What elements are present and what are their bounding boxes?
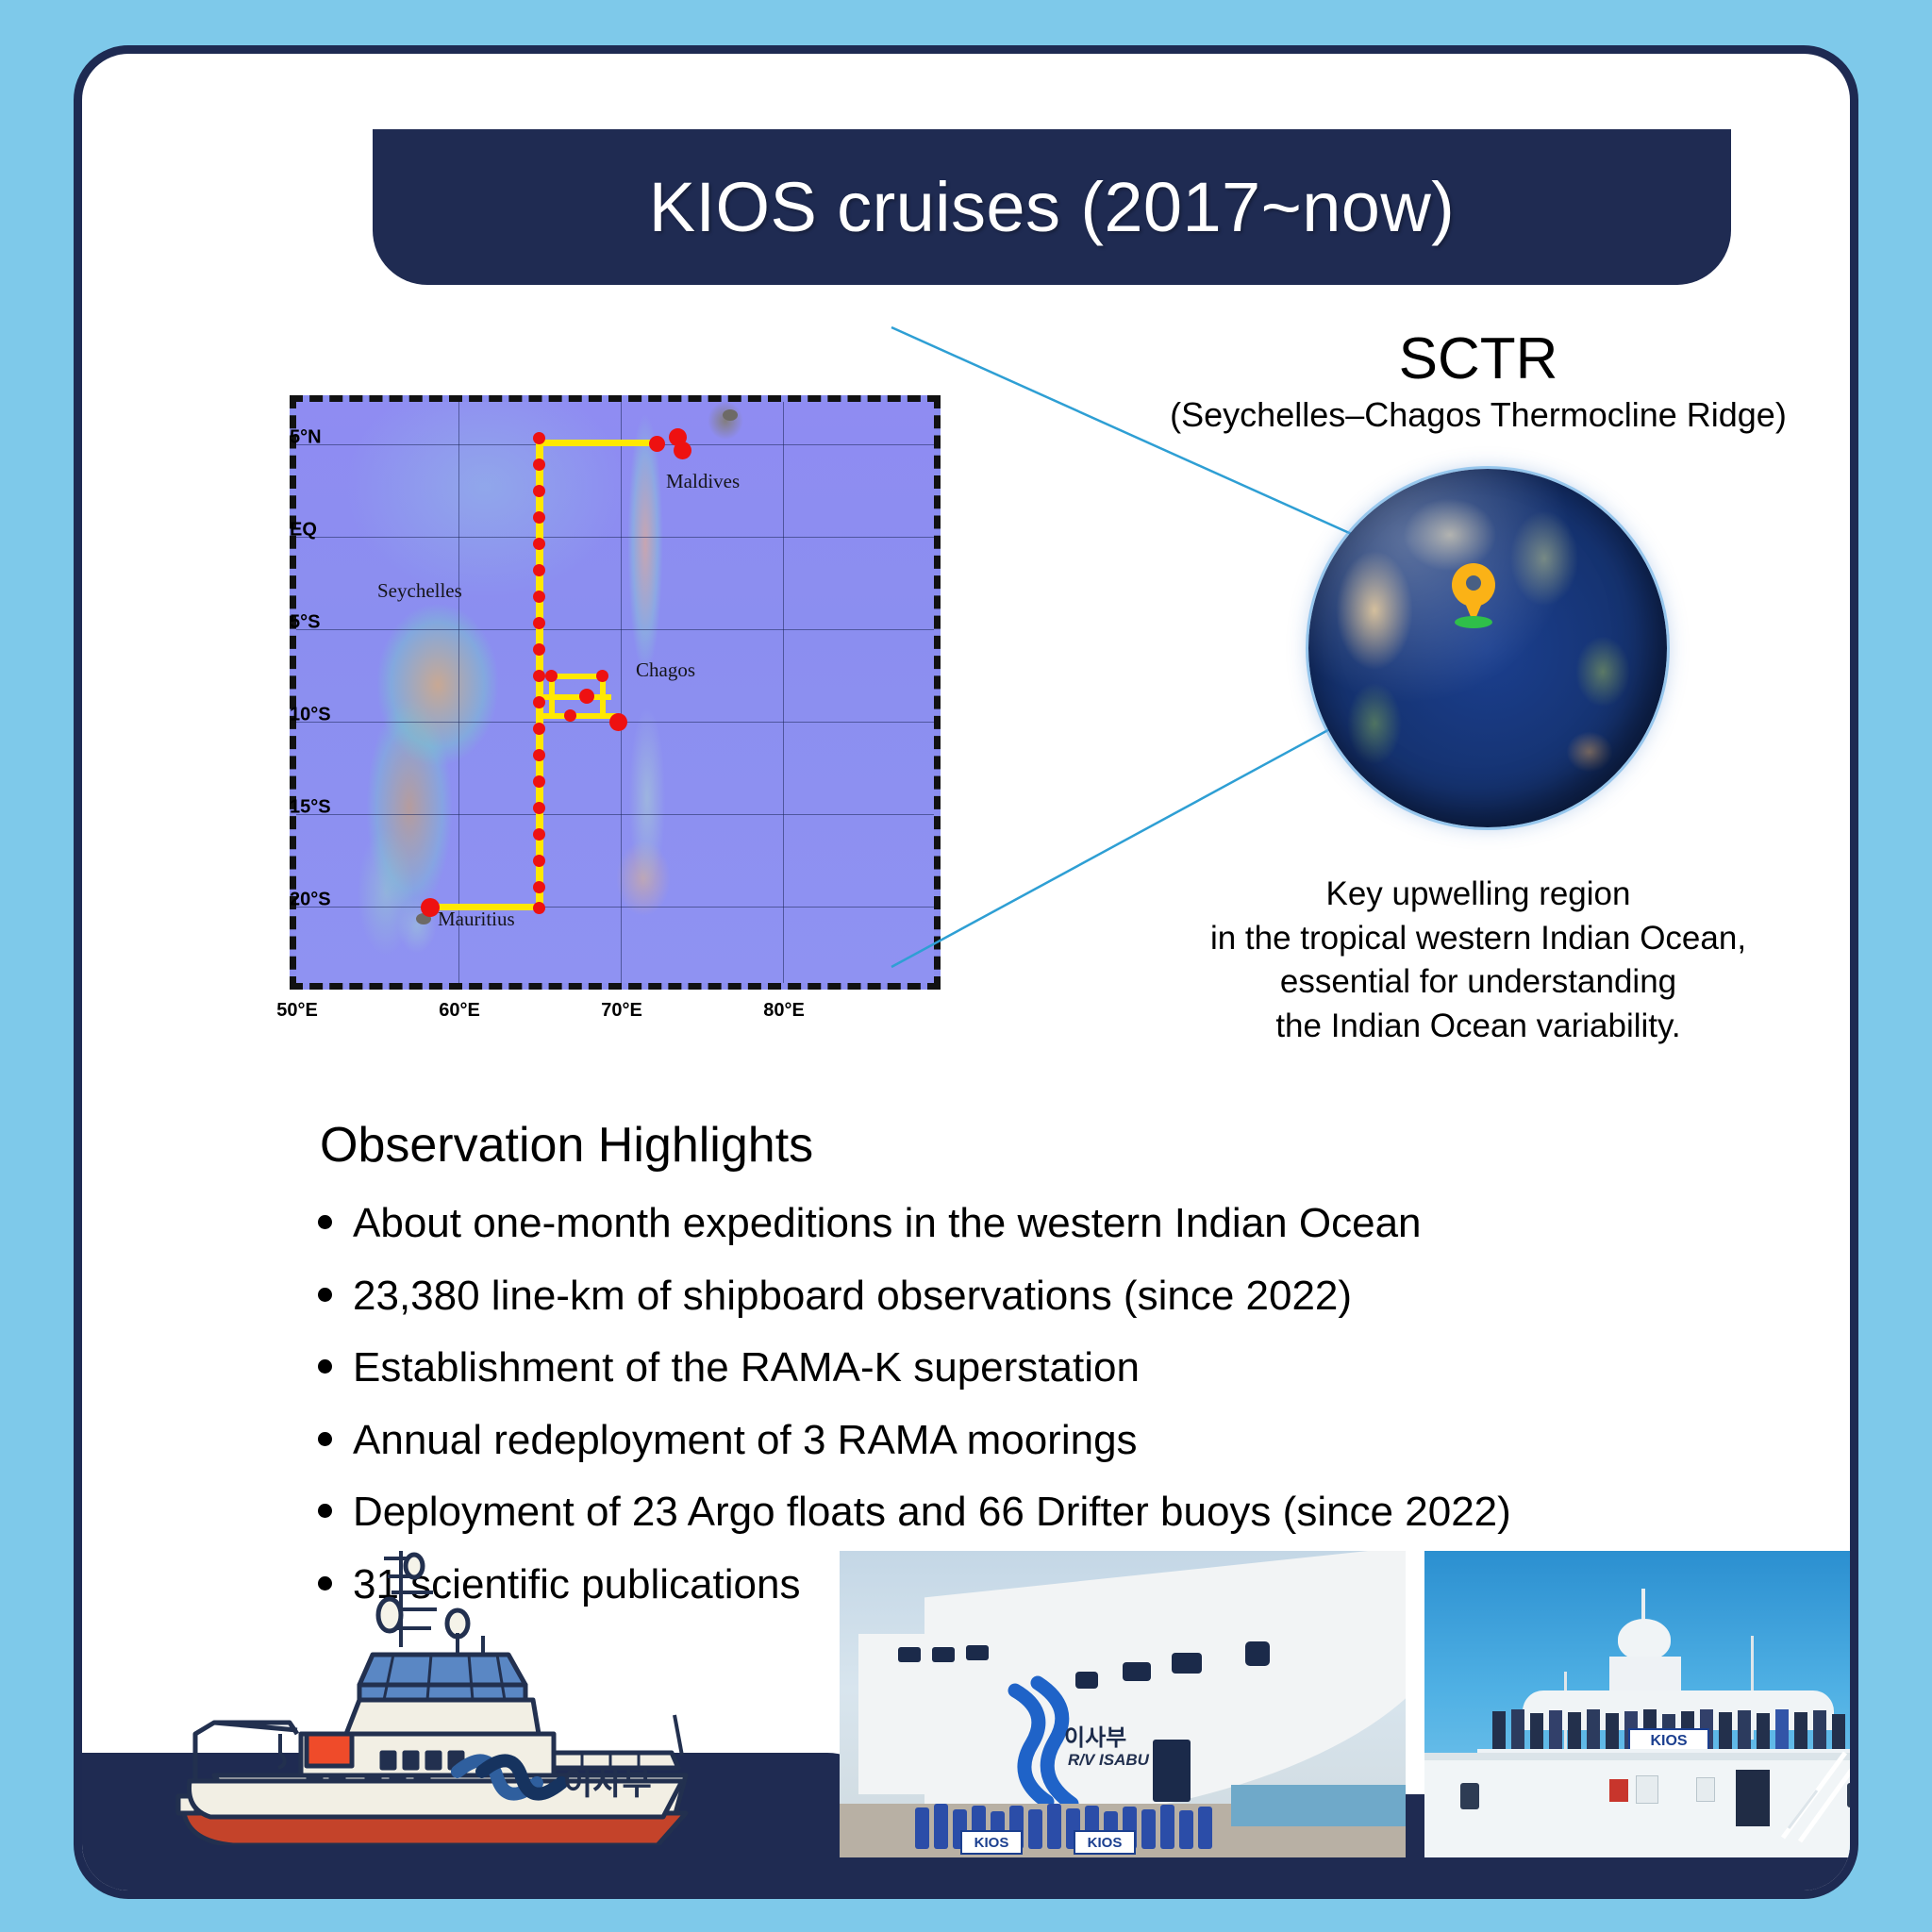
- station-dot: [533, 881, 545, 893]
- station-dot: [533, 485, 545, 497]
- grid-line-EQ: [296, 537, 934, 538]
- map-x-tick-70E: 70°E: [601, 1000, 642, 1022]
- station-dot: [533, 828, 545, 841]
- track-line-box-mid: [543, 694, 611, 700]
- grid-line-70E: [621, 402, 622, 983]
- station-dot-box: [564, 709, 576, 722]
- globe-graphic: [1308, 469, 1667, 827]
- photo-banner-kios-left: KIOS: [960, 1830, 1023, 1855]
- photo-stairs: [1775, 1747, 1858, 1845]
- sctr-desc-line-2: in the tropical western Indian Ocean,: [1101, 917, 1856, 961]
- map-label-maldives: Maldives: [666, 470, 740, 493]
- sctr-subtitle: (Seychelles–Chagos Thermocline Ridge): [1025, 395, 1858, 435]
- photo-ship-name-roman: R/V ISABU: [1068, 1751, 1149, 1770]
- photo-hatch: [1153, 1740, 1191, 1802]
- station-dot: [533, 902, 545, 914]
- infographic-poster: KIOS cruises (2017~now) Maldives: [0, 0, 1932, 1932]
- sctr-description: Key upwelling region in the tropical wes…: [1101, 873, 1856, 1048]
- photo-banner-kios-right: KIOS: [1074, 1830, 1136, 1855]
- bullet-dot-icon: [318, 1359, 332, 1374]
- track-line-to-mauritius: [428, 904, 541, 910]
- list-item-label: Deployment of 23 Argo floats and 66 Drif…: [353, 1489, 1511, 1537]
- photo-window: [1460, 1783, 1479, 1809]
- station-dot: [533, 802, 545, 814]
- list-item: About one-month expeditions in the weste…: [318, 1200, 1790, 1248]
- photo-window: [966, 1645, 989, 1660]
- track-line-to-maldives: [540, 440, 655, 446]
- page-title: KIOS cruises (2017~now): [649, 167, 1455, 247]
- station-dot-box: [609, 713, 627, 731]
- photo-doorway: [1736, 1770, 1770, 1826]
- research-vessel-illustration: 이사부: [158, 1534, 761, 1845]
- list-item: Annual redeployment of 3 RAMA moorings: [318, 1417, 1790, 1465]
- station-dot-maldives: [674, 441, 691, 459]
- station-dot: [533, 511, 545, 524]
- island-dot-srilanka: [723, 409, 738, 421]
- station-dot: [533, 670, 545, 682]
- poster-card: KIOS cruises (2017~now) Maldives: [74, 45, 1858, 1899]
- station-dot: [533, 749, 545, 761]
- photo-window: [932, 1647, 955, 1662]
- station-dot-box: [596, 670, 608, 682]
- photo-window: [1245, 1641, 1270, 1666]
- map-label-mauritius: Mauritius: [438, 908, 515, 931]
- grid-line-60E: [458, 402, 459, 983]
- sctr-desc-line-1: Key upwelling region: [1101, 873, 1856, 917]
- observation-highlights-title: Observation Highlights: [320, 1117, 813, 1174]
- station-dot-maldives: [649, 436, 665, 452]
- photo-equipment-box: [1636, 1775, 1658, 1804]
- list-item-label: Establishment of the RAMA-K superstation: [353, 1344, 1140, 1392]
- station-dot: [533, 723, 545, 735]
- list-item-label: Annual redeployment of 3 RAMA moorings: [353, 1417, 1138, 1465]
- sctr-desc-line-4: the Indian Ocean variability.: [1101, 1005, 1856, 1049]
- photo-crew-on-deck: KIOS: [1424, 1551, 1858, 1857]
- map-x-tick-80E: 80°E: [763, 1000, 805, 1022]
- photo-window: [898, 1647, 921, 1662]
- station-dot: [533, 696, 545, 708]
- list-item: Establishment of the RAMA-K superstation: [318, 1344, 1790, 1392]
- station-dot: [533, 775, 545, 788]
- bullet-dot-icon: [318, 1432, 332, 1446]
- grid-line-5S: [296, 629, 934, 630]
- list-item: Deployment of 23 Argo floats and 66 Drif…: [318, 1489, 1790, 1537]
- globe-rim: [1306, 466, 1670, 830]
- map-frame: Maldives Seychelles Chagos Mauritius: [290, 395, 941, 990]
- photo-radome-icon: [1618, 1619, 1671, 1660]
- bathymetry-raster: [296, 402, 934, 983]
- station-dot-box: [545, 670, 558, 682]
- map-x-tick-60E: 60°E: [439, 1000, 480, 1022]
- map-pin-icon: [1452, 563, 1495, 625]
- station-dot: [533, 432, 545, 444]
- list-item-label: 23,380 line-km of shipboard observations…: [353, 1273, 1352, 1321]
- bullet-dot-icon: [318, 1504, 332, 1518]
- title-banner: KIOS cruises (2017~now): [373, 129, 1731, 285]
- list-item: 23,380 line-km of shipboard observations…: [318, 1273, 1790, 1321]
- photo-equipment-box: [1696, 1777, 1715, 1802]
- bullet-dot-icon: [318, 1215, 332, 1229]
- map-x-tick-50E: 50°E: [276, 1000, 318, 1022]
- station-dot: [533, 564, 545, 576]
- photo-water: [1231, 1785, 1406, 1826]
- station-dot-box: [579, 689, 594, 704]
- track-line-box-bottom: [543, 713, 617, 719]
- photo-equipment-box: [1609, 1779, 1628, 1802]
- station-dot-mauritius: [421, 898, 440, 917]
- station-dot: [533, 538, 545, 550]
- bullet-dot-icon: [318, 1288, 332, 1302]
- photo-crew-at-dock: 이사부 R/V ISABU: [840, 1551, 1406, 1857]
- sctr-desc-line-3: essential for understanding: [1101, 960, 1856, 1005]
- station-dot: [533, 855, 545, 867]
- grid-line-15S: [296, 814, 934, 815]
- station-dot: [533, 458, 545, 471]
- photo-mast-platform: [1609, 1657, 1681, 1692]
- station-dot: [533, 617, 545, 629]
- ship-hull-name: 이사부: [563, 1766, 652, 1802]
- map-label-seychelles: Seychelles: [377, 579, 462, 603]
- grid-line-80E: [783, 402, 784, 983]
- map-label-chagos: Chagos: [636, 658, 695, 682]
- station-dot: [533, 591, 545, 603]
- list-item-label: About one-month expeditions in the weste…: [353, 1200, 1422, 1248]
- grid-line-20S: [296, 907, 934, 908]
- photo-window: [1123, 1662, 1151, 1681]
- photo-ship-name-korean: 이사부: [1064, 1719, 1126, 1752]
- photo-window: [1172, 1653, 1202, 1674]
- station-dot: [533, 643, 545, 656]
- sctr-title: SCTR: [1082, 325, 1858, 392]
- cruise-track-map: Maldives Seychelles Chagos Mauritius: [242, 375, 959, 1035]
